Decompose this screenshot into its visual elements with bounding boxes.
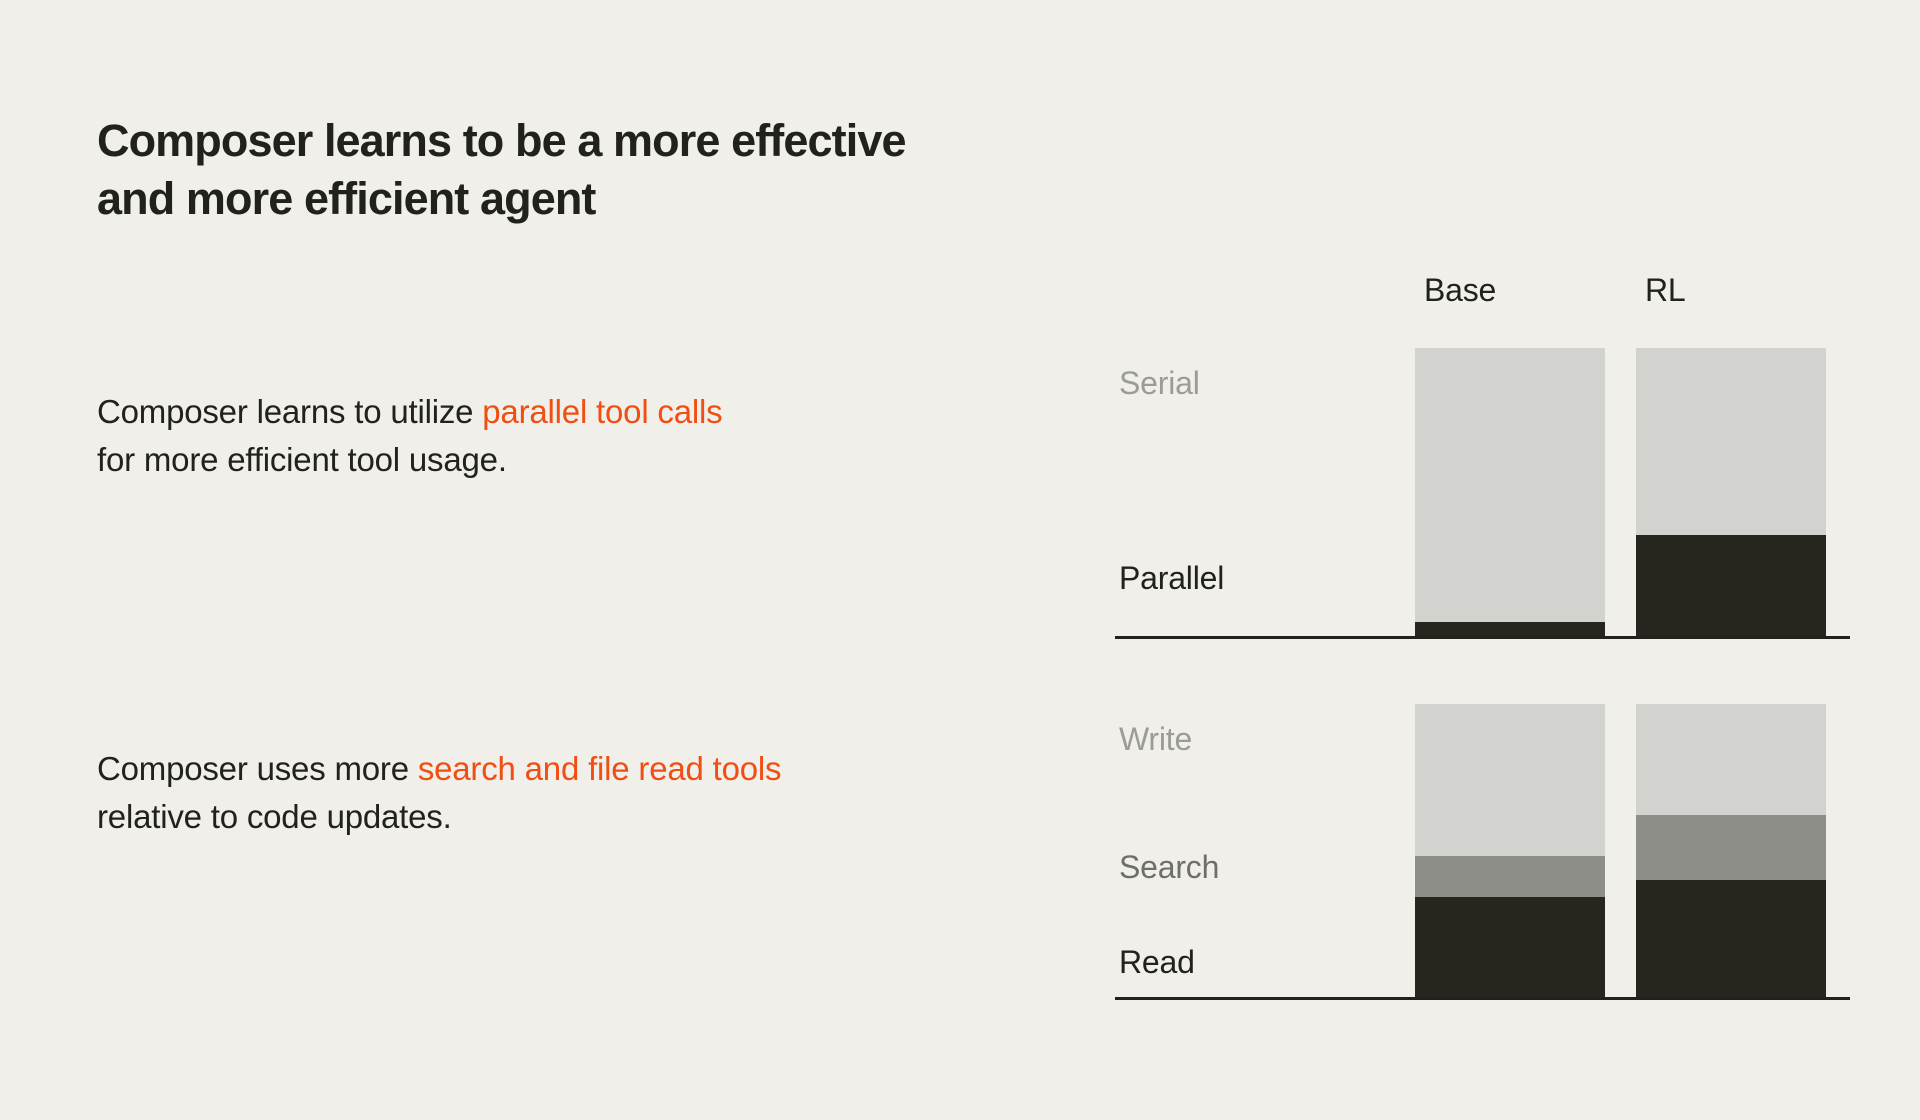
chart2-rl-segment-read	[1636, 880, 1826, 997]
column-header-rl: RL	[1645, 272, 1686, 309]
chart1-rl-segment-serial	[1636, 348, 1826, 535]
charts-panel: Base RL Serial Parallel Write Search Rea…	[0, 0, 1920, 1120]
chart1-label-serial: Serial	[1119, 367, 1200, 399]
chart2-base-segment-read	[1415, 897, 1605, 997]
chart-serial-parallel: Serial Parallel	[1115, 347, 1850, 639]
column-header-base: Base	[1424, 272, 1496, 309]
chart2-label-search: Search	[1119, 851, 1219, 883]
chart2-label-read: Read	[1119, 946, 1195, 978]
chart1-axis-line	[1115, 636, 1850, 639]
chart1-bar-rl	[1636, 348, 1826, 636]
chart2-rl-segment-search	[1636, 815, 1826, 879]
chart2-base-segment-write	[1415, 704, 1605, 856]
chart1-bar-base	[1415, 348, 1605, 636]
chart1-rl-segment-parallel	[1636, 535, 1826, 636]
chart1-base-segment-parallel	[1415, 622, 1605, 636]
chart-tool-usage-mix: Write Search Read	[1115, 703, 1850, 1000]
chart2-bar-base	[1415, 704, 1605, 997]
chart2-base-segment-search	[1415, 856, 1605, 897]
chart2-label-write: Write	[1119, 723, 1192, 755]
chart1-label-parallel: Parallel	[1119, 562, 1224, 594]
chart1-base-segment-serial	[1415, 348, 1605, 622]
chart2-bar-rl	[1636, 704, 1826, 997]
chart2-rl-segment-write	[1636, 704, 1826, 815]
chart2-axis-line	[1115, 997, 1850, 1000]
